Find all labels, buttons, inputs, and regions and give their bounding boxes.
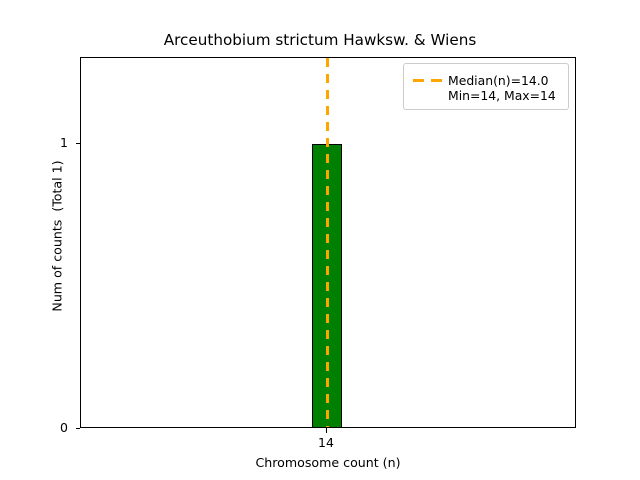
chart-title: Arceuthobium strictum Hawksw. & Wiens: [0, 31, 640, 49]
xtick-mark-14: [326, 428, 327, 433]
median-line-marker: [326, 58, 329, 428]
xtick-label-14: 14: [296, 436, 356, 450]
x-axis-label: Chromosome count (n): [80, 455, 576, 470]
ytick-label-0: 0: [8, 422, 68, 434]
legend-median-dash-icon: [413, 79, 443, 82]
legend-label-median: Median(n)=14.0: [448, 73, 562, 88]
ytick-mark-0: [76, 428, 81, 429]
plot-area: [80, 57, 576, 428]
legend-label-minmax: Min=14, Max=14: [448, 88, 562, 103]
legend-box: Median(n)=14.0 Min=14, Max=14: [403, 63, 569, 110]
figure-canvas: Arceuthobium strictum Hawksw. & Wiens 1 …: [0, 0, 640, 480]
y-axis-label-container: Num of counts (Total 1): [49, 51, 67, 422]
ytick-mark-1: [76, 143, 81, 144]
y-axis-label: Num of counts (Total 1): [50, 160, 66, 311]
